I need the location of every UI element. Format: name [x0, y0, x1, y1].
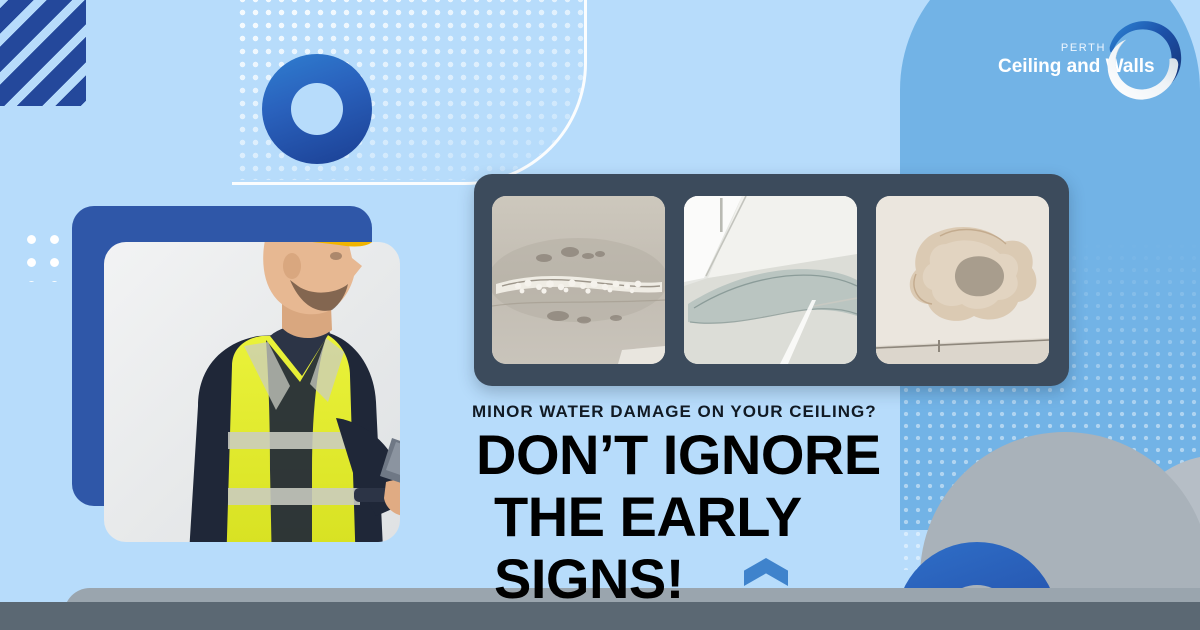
ring-circle-icon-top — [262, 54, 372, 164]
ceiling-crack-photo — [492, 196, 665, 364]
eyebrow-text: MINOR WATER DAMAGE ON YOUR CEILING? — [472, 402, 877, 422]
swirl-wave-logo-icon — [1092, 12, 1190, 110]
brand-name: Ceiling and Walls — [998, 55, 1106, 78]
worker-figure — [140, 170, 460, 570]
worker-hair — [266, 206, 352, 240]
brand-logo-text: PERTH Ceiling and Walls — [998, 42, 1106, 78]
ceiling-water-stain-photo — [684, 196, 857, 364]
marketing-banner: MINOR WATER DAMAGE ON YOUR CEILING? DON’… — [0, 0, 1200, 630]
worker-ear — [283, 253, 301, 279]
photo-thumbnail-1[interactable] — [492, 196, 665, 364]
ceiling-brown-stain-photo — [876, 196, 1049, 364]
vest-reflective-band-2 — [228, 488, 360, 505]
stain-core — [955, 256, 1004, 296]
page-title: DON’T IGNORE THE EARLY SIGNS! — [468, 424, 988, 610]
hard-hat — [248, 175, 368, 233]
photo-thumbnail-2[interactable] — [684, 196, 857, 364]
photo-strip — [474, 174, 1069, 386]
worker-hand — [384, 480, 431, 517]
hard-hat-ridges — [266, 174, 310, 188]
brand-top-line: PERTH — [998, 42, 1106, 55]
brand-logo[interactable]: PERTH Ceiling and Walls — [998, 26, 1184, 104]
headline-line-2: THE EARLY SIGNS! — [468, 486, 988, 610]
headline-line-1: DON’T IGNORE — [468, 424, 988, 486]
worker-eye — [330, 252, 342, 260]
photo-thumbnail-3[interactable] — [876, 196, 1049, 364]
vest-reflective-band-1 — [228, 432, 358, 449]
diagonal-stripes-icon — [0, 0, 86, 106]
